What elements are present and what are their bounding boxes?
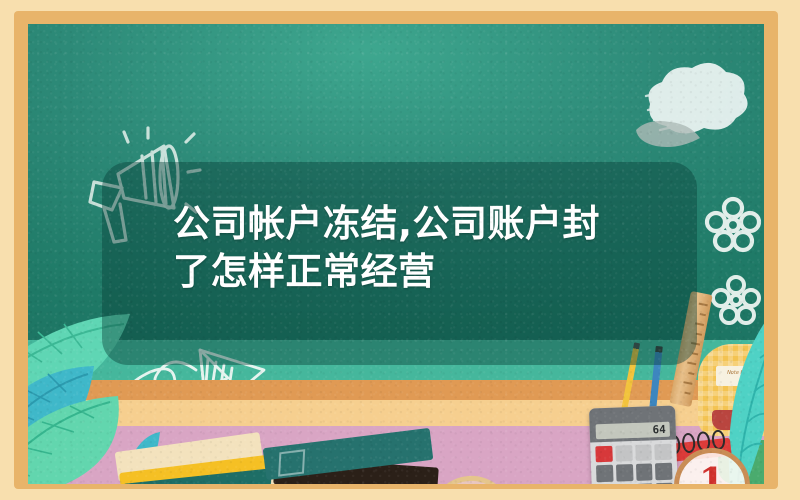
calculator-key — [596, 465, 613, 482]
flower-icon — [704, 196, 762, 254]
calculator-key — [656, 482, 673, 484]
calculator-key — [616, 464, 633, 481]
calculator-key — [655, 444, 672, 461]
chalk-smudge-icon — [630, 52, 760, 157]
page-title: 公司帐户冻结,公司账户封 了怎样正常经营 — [173, 200, 643, 296]
calculator-key — [655, 463, 672, 480]
calculator-key — [615, 445, 632, 462]
calculator-key — [635, 464, 652, 481]
calculator-keypad — [595, 444, 674, 484]
calculator-key — [635, 444, 652, 461]
calculator-key — [636, 483, 653, 484]
poster: Note Book — [0, 0, 800, 500]
calculator-icon: 64 — [589, 406, 679, 484]
calculator-key — [595, 446, 612, 463]
chalkboard-surface: Note Book — [28, 24, 764, 484]
magnifier-number: 1 — [699, 459, 725, 484]
calculator-display: 64 — [596, 422, 670, 440]
